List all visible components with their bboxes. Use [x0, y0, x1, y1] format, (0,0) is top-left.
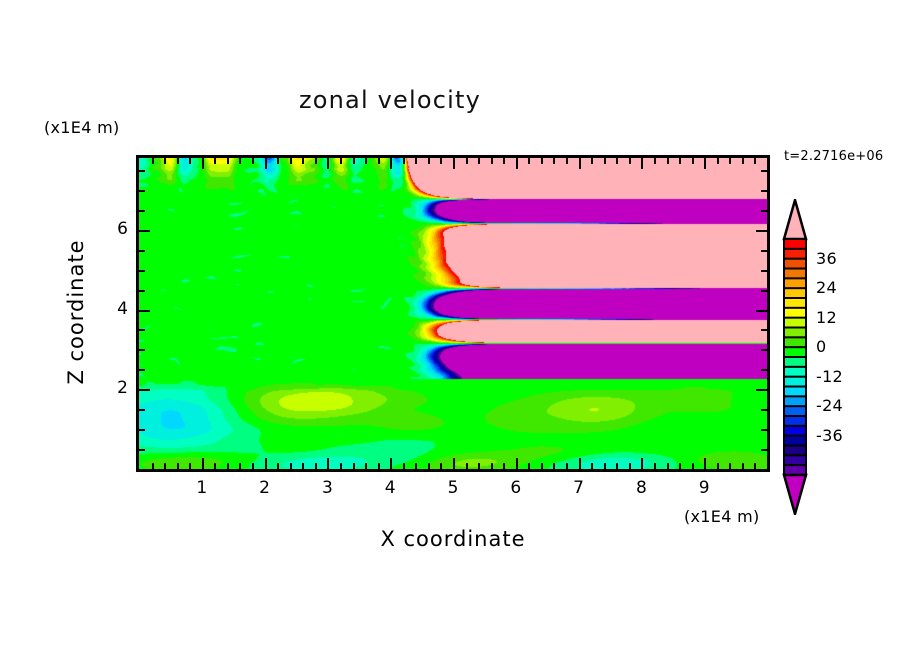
- colorbar-band: [784, 367, 806, 377]
- x-minor-tick-top: [340, 158, 342, 164]
- colorbar-band: [784, 318, 806, 328]
- colorbar-band: [784, 269, 806, 279]
- z-minor-tick: [139, 409, 145, 411]
- x-minor-tick: [729, 463, 731, 469]
- colorbar-tick-label: 36: [816, 249, 837, 268]
- x-minor-tick-top: [528, 158, 530, 164]
- x-minor-tick: [667, 463, 669, 469]
- timestamp-annotation: t=2.2716e+06: [784, 149, 883, 164]
- x-minor-tick-top: [290, 158, 292, 164]
- x-minor-tick-top: [378, 158, 380, 164]
- z-major-tick-right: [756, 230, 767, 232]
- x-minor-tick: [566, 463, 568, 469]
- z-tick-label: 4: [104, 299, 128, 319]
- x-major-tick: [579, 458, 581, 469]
- x-major-tick-top: [327, 158, 329, 169]
- x-major-tick: [516, 458, 518, 469]
- colorbar-band: [784, 357, 806, 367]
- colorbar-band: [784, 377, 806, 387]
- z-minor-tick-right: [761, 210, 767, 212]
- colorbar-band: [784, 446, 806, 456]
- x-minor-tick: [152, 463, 154, 469]
- x-minor-tick-top: [214, 158, 216, 164]
- x-minor-tick-top: [679, 158, 681, 164]
- x-minor-tick: [340, 463, 342, 469]
- colorbar-band: [784, 436, 806, 446]
- colorbar[interactable]: [781, 199, 809, 515]
- x-minor-tick: [692, 463, 694, 469]
- x-minor-tick: [189, 463, 191, 469]
- x-minor-tick: [528, 463, 530, 469]
- z-minor-tick: [139, 349, 145, 351]
- x-minor-tick-top: [415, 158, 417, 164]
- z-minor-tick-right: [761, 190, 767, 192]
- colorbar-tick-label: 0: [816, 337, 826, 356]
- x-tick-label: 7: [564, 478, 594, 498]
- x-minor-tick-top: [629, 158, 631, 164]
- x-minor-tick: [290, 463, 292, 469]
- x-minor-tick: [214, 463, 216, 469]
- x-major-tick-top: [579, 158, 581, 169]
- z-minor-tick-right: [761, 349, 767, 351]
- z-minor-tick: [139, 329, 145, 331]
- x-minor-tick-top: [315, 158, 317, 164]
- x-minor-tick-top: [553, 158, 555, 164]
- x-minor-tick-top: [365, 158, 367, 164]
- x-tick-label: 9: [689, 478, 719, 498]
- x-minor-tick-top: [478, 158, 480, 164]
- z-minor-tick-right: [761, 449, 767, 451]
- x-minor-tick: [754, 463, 756, 469]
- colorbar-band: [784, 426, 806, 436]
- x-minor-tick-top: [164, 158, 166, 164]
- x-minor-tick-top: [503, 158, 505, 164]
- x-minor-tick: [353, 463, 355, 469]
- x-minor-tick: [466, 463, 468, 469]
- x-minor-tick-top: [302, 158, 304, 164]
- x-minor-tick: [252, 463, 254, 469]
- x-minor-tick: [177, 463, 179, 469]
- x-axis-title: X coordinate: [136, 527, 770, 551]
- z-minor-tick-right: [761, 429, 767, 431]
- x-minor-tick-top: [566, 158, 568, 164]
- x-tick-label: 6: [501, 478, 531, 498]
- z-major-tick: [139, 230, 150, 232]
- x-minor-tick-top: [403, 158, 405, 164]
- x-minor-tick: [478, 463, 480, 469]
- x-major-tick-top: [265, 158, 267, 169]
- x-minor-tick-top: [717, 158, 719, 164]
- colorbar-band: [784, 337, 806, 347]
- x-minor-tick-top: [541, 158, 543, 164]
- z-minor-tick-right: [761, 250, 767, 252]
- x-minor-tick: [440, 463, 442, 469]
- colorbar-band: [784, 455, 806, 465]
- x-minor-tick: [654, 463, 656, 469]
- x-minor-tick: [403, 463, 405, 469]
- colorbar-band: [784, 387, 806, 397]
- x-minor-tick-top: [189, 158, 191, 164]
- x-minor-tick: [742, 463, 744, 469]
- x-axis-unit-label: (x1E4 m): [684, 507, 760, 526]
- x-minor-tick: [591, 463, 593, 469]
- x-minor-tick: [679, 463, 681, 469]
- colorbar-band: [784, 328, 806, 338]
- x-minor-tick-top: [466, 158, 468, 164]
- x-minor-tick: [315, 463, 317, 469]
- x-minor-tick-top: [754, 158, 756, 164]
- z-major-tick: [139, 389, 150, 391]
- x-minor-tick-top: [152, 158, 154, 164]
- z-minor-tick: [139, 290, 145, 292]
- z-minor-tick: [139, 250, 145, 252]
- x-minor-tick: [428, 463, 430, 469]
- colorbar-band: [784, 278, 806, 288]
- x-major-tick: [265, 458, 267, 469]
- x-minor-tick: [365, 463, 367, 469]
- colorbar-band: [784, 347, 806, 357]
- x-tick-label: 8: [626, 478, 656, 498]
- x-major-tick-top: [390, 158, 392, 169]
- x-major-tick-top: [202, 158, 204, 169]
- z-minor-tick: [139, 429, 145, 431]
- colorbar-band: [784, 416, 806, 426]
- z-major-tick-right: [756, 310, 767, 312]
- x-major-tick-top: [453, 158, 455, 169]
- x-minor-tick-top: [729, 158, 731, 164]
- x-minor-tick: [553, 463, 555, 469]
- x-minor-tick: [378, 463, 380, 469]
- colorbar-band: [784, 298, 806, 308]
- x-minor-tick-top: [654, 158, 656, 164]
- x-minor-tick-top: [742, 158, 744, 164]
- colorbar-tick-label: 12: [816, 308, 837, 327]
- colorbar-tick-label: -36: [816, 426, 843, 445]
- z-minor-tick-right: [761, 409, 767, 411]
- z-minor-tick-right: [761, 329, 767, 331]
- z-major-tick-right: [756, 389, 767, 391]
- x-minor-tick: [491, 463, 493, 469]
- x-minor-tick-top: [667, 158, 669, 164]
- colorbar-band: [784, 288, 806, 298]
- z-minor-tick-right: [761, 369, 767, 371]
- x-minor-tick-top: [177, 158, 179, 164]
- x-major-tick: [704, 458, 706, 469]
- z-minor-tick: [139, 210, 145, 212]
- x-minor-tick: [604, 463, 606, 469]
- z-tick-label: 6: [104, 219, 128, 239]
- colorbar-tick-label: -24: [816, 396, 843, 415]
- x-major-tick-top: [704, 158, 706, 169]
- y-axis-title: Z coordinate: [64, 212, 88, 412]
- x-minor-tick-top: [353, 158, 355, 164]
- colorbar-band: [784, 259, 806, 269]
- z-minor-tick-right: [761, 170, 767, 172]
- colorbar-tick-label: -12: [816, 367, 843, 386]
- z-minor-tick: [139, 449, 145, 451]
- z-minor-tick-right: [761, 270, 767, 272]
- x-minor-tick-top: [491, 158, 493, 164]
- z-minor-tick: [139, 190, 145, 192]
- x-major-tick: [641, 458, 643, 469]
- z-minor-tick-right: [761, 290, 767, 292]
- x-minor-tick: [239, 463, 241, 469]
- z-minor-tick: [139, 369, 145, 371]
- z-major-tick: [139, 310, 150, 312]
- x-tick-label: 2: [250, 478, 280, 498]
- colorbar-band: [784, 406, 806, 416]
- x-major-tick-top: [641, 158, 643, 169]
- x-major-tick-top: [516, 158, 518, 169]
- x-minor-tick-top: [239, 158, 241, 164]
- x-minor-tick-top: [616, 158, 618, 164]
- x-minor-tick: [717, 463, 719, 469]
- colorbar-band: [784, 249, 806, 259]
- x-minor-tick-top: [252, 158, 254, 164]
- x-minor-tick: [164, 463, 166, 469]
- colorbar-tick-label: 24: [816, 278, 837, 297]
- contour-field-canvas: [139, 158, 767, 469]
- x-major-tick: [327, 458, 329, 469]
- colorbar-under-cap: [784, 475, 806, 514]
- x-minor-tick-top: [604, 158, 606, 164]
- x-minor-tick: [629, 463, 631, 469]
- x-minor-tick-top: [440, 158, 442, 164]
- z-minor-tick: [139, 270, 145, 272]
- x-minor-tick-top: [591, 158, 593, 164]
- x-minor-tick: [541, 463, 543, 469]
- z-minor-tick: [139, 170, 145, 172]
- x-tick-label: 1: [187, 478, 217, 498]
- y-axis-unit-label: (x1E4 m): [44, 118, 120, 137]
- x-minor-tick: [503, 463, 505, 469]
- x-minor-tick-top: [227, 158, 229, 164]
- x-minor-tick: [227, 463, 229, 469]
- x-minor-tick-top: [692, 158, 694, 164]
- z-tick-label: 2: [104, 378, 128, 398]
- colorbar-band: [784, 308, 806, 318]
- x-major-tick: [202, 458, 204, 469]
- x-minor-tick-top: [277, 158, 279, 164]
- colorbar-swatches: [781, 199, 809, 515]
- x-major-tick: [453, 458, 455, 469]
- x-minor-tick: [415, 463, 417, 469]
- colorbar-band: [784, 396, 806, 406]
- x-tick-label: 5: [438, 478, 468, 498]
- page-title: zonal velocity: [0, 86, 780, 114]
- x-minor-tick: [616, 463, 618, 469]
- x-tick-label: 3: [312, 478, 342, 498]
- x-major-tick: [390, 458, 392, 469]
- colorbar-band: [784, 239, 806, 249]
- contour-plot-area[interactable]: [136, 155, 770, 472]
- x-tick-label: 4: [375, 478, 405, 498]
- x-minor-tick-top: [428, 158, 430, 164]
- x-minor-tick: [277, 463, 279, 469]
- x-minor-tick: [302, 463, 304, 469]
- colorbar-over-cap: [784, 200, 806, 239]
